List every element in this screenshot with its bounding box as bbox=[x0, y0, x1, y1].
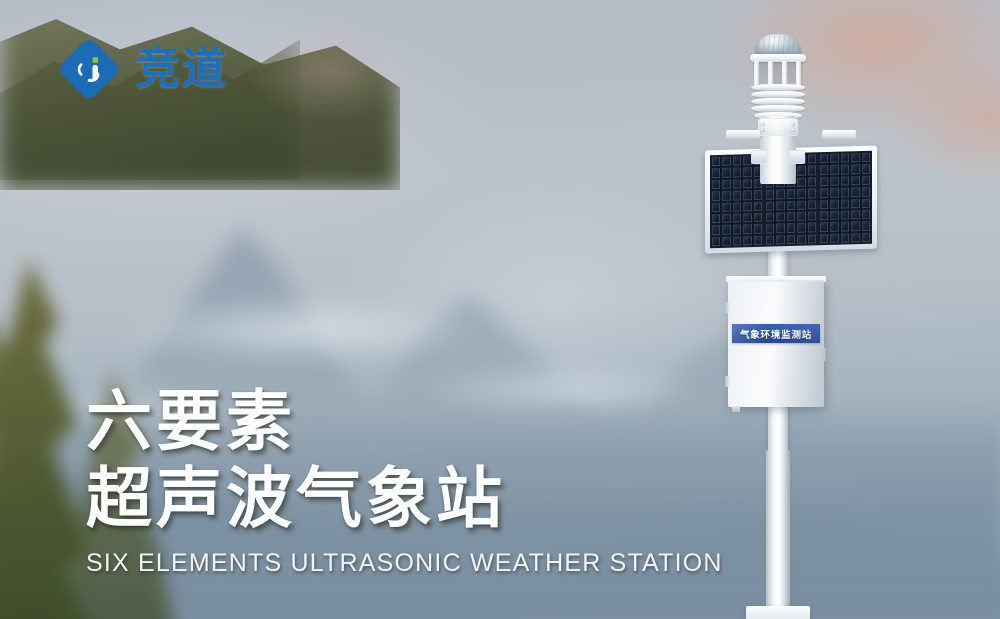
transducer-post bbox=[768, 61, 773, 85]
bracket-bolt bbox=[791, 122, 795, 126]
radiation-shield-icon bbox=[751, 84, 805, 118]
dome-ribs bbox=[755, 36, 801, 56]
brand-name: 竞道 bbox=[136, 47, 228, 91]
mount-clamp bbox=[789, 150, 805, 164]
headline-block: 六要素 超声波气象站 SIX ELEMENTS ULTRASONIC WEATH… bbox=[86, 386, 723, 578]
ultrasonic-transducer-posts bbox=[753, 61, 803, 85]
transducer-post bbox=[754, 61, 759, 85]
headline-subtitle: SIX ELEMENTS ULTRASONIC WEATHER STATION bbox=[86, 549, 723, 578]
transducer-post bbox=[796, 61, 801, 85]
shield-disc bbox=[751, 91, 805, 98]
ultrasonic-weather-sensor-icon bbox=[742, 30, 814, 136]
cabinet-shading bbox=[728, 280, 824, 407]
product-banner: 竞道 六要素 超声波气象站 SIX ELEMENTS ULTRASONIC WE… bbox=[0, 0, 1000, 619]
panel-bracket bbox=[822, 130, 856, 139]
bracket-bolt bbox=[761, 122, 765, 126]
headline-line-1: 六要素 bbox=[86, 386, 723, 457]
panel-pole-mount bbox=[760, 138, 796, 184]
shield-disc bbox=[751, 84, 805, 91]
panel-bracket bbox=[726, 130, 760, 139]
mount-clamp bbox=[751, 150, 767, 164]
headline-line-2: 超声波气象站 bbox=[86, 463, 723, 534]
shield-disc bbox=[751, 105, 805, 112]
jingdao-diamond-logo-icon bbox=[56, 36, 122, 102]
brand-logo[interactable]: 竞道 bbox=[56, 36, 228, 102]
weather-station-device: 气象环境监测站 bbox=[700, 30, 890, 619]
transducer-post bbox=[782, 61, 787, 85]
solar-cell-column bbox=[820, 153, 870, 243]
solar-cell-column bbox=[712, 156, 762, 246]
shield-disc bbox=[751, 98, 805, 105]
pole-base-icon bbox=[746, 606, 810, 619]
control-cabinet-icon: 气象环境监测站 bbox=[728, 280, 824, 407]
